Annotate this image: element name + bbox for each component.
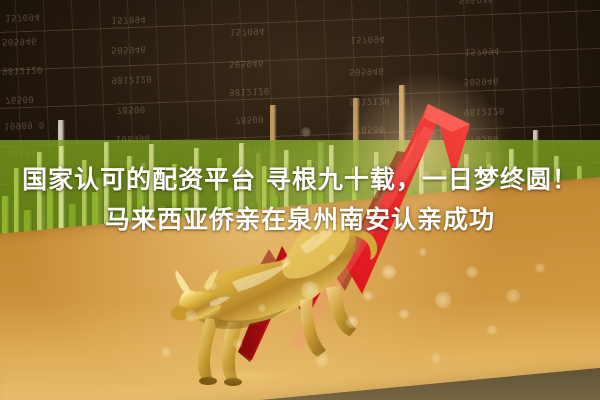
news-banner-image: 15709450594698121207650010989 0107070157… (0, 0, 600, 400)
bull-floor-reflection (176, 372, 316, 398)
